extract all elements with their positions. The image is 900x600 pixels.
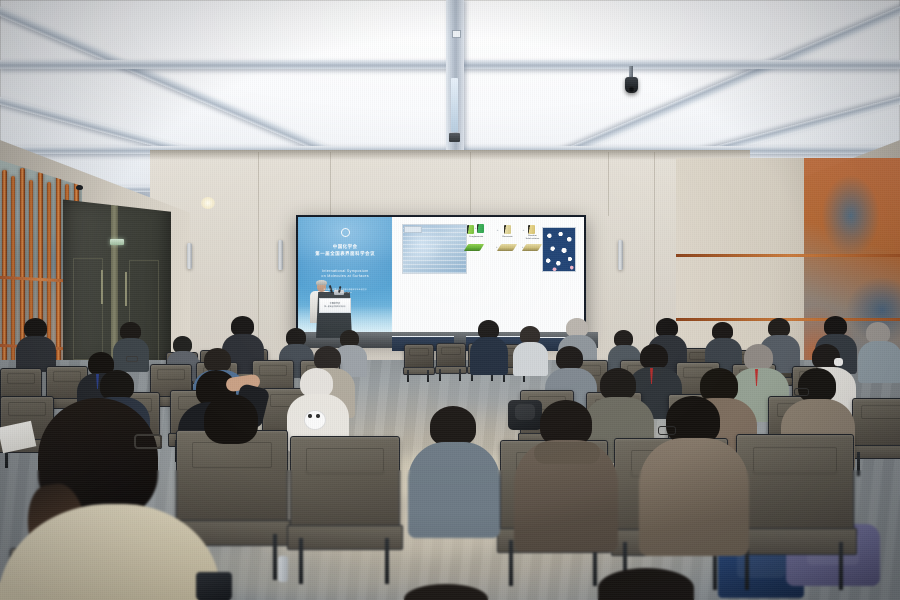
podium-sign-line2: 第一届全国表界面科学会议 [324,306,345,308]
poster-cn-title-line2: 第一届全国表界面科学会议 [298,251,392,258]
diagram-operator: + [497,228,499,232]
person-torso [858,341,900,383]
wall-seam [654,152,655,364]
person-hair [204,394,258,444]
chair-leg [385,538,389,584]
panda-eye [316,414,320,418]
stm-micrograph [402,224,467,274]
person-hair [700,368,738,402]
presenter-hair [316,280,327,285]
wall-seam [258,152,259,367]
wall-speaker [618,240,623,270]
chair-leg [299,538,303,584]
person-hair [824,316,847,336]
chair-leg [509,540,513,586]
chair-leg [273,534,277,580]
table-row[interactable] [736,434,852,590]
person-hair [430,406,476,446]
panda-eye [308,414,312,418]
door-handle[interactable] [125,272,127,306]
chair-back [176,430,288,525]
smartphone[interactable] [196,572,232,600]
chair-leg [459,369,461,381]
conference-hall-photo: 中国化学会 第一届全国表界面科学会议 International Symposi… [0,0,900,600]
person-torso [408,442,500,538]
wall-speaker [278,240,283,270]
table-row[interactable] [404,344,432,382]
chair-back [290,436,400,530]
door-panel [73,258,103,360]
person-hair [798,368,836,402]
stm-scalebar-tag [404,226,422,233]
poster-en-title-line2: on Molecules at Surfaces [298,274,392,279]
chair-back [404,344,434,370]
person-hair [744,344,773,370]
eyeglasses [658,426,676,435]
person-hair [556,346,583,370]
chair-leg [407,370,409,382]
diagram-operator: + [523,228,525,232]
ceiling-fixture-box [452,30,461,38]
person-hair [314,346,341,370]
table-row[interactable] [852,398,900,476]
person-hair [100,370,134,400]
table-row[interactable] [436,343,464,381]
podium-sign: 中国化学会 第一届全国表界面科学会议 [319,298,351,313]
slide-science-content: + Conglomerate + + Racemate + + Rand [392,217,584,337]
small-black-bag [508,400,542,430]
chair-leg [839,542,843,590]
person-torso [639,438,749,556]
domain-map-inset [542,227,577,272]
wall-seam [470,152,471,214]
chair-back [852,398,900,448]
wall-downlight [201,197,215,209]
ceiling-diffuser-strip [451,78,458,132]
wall-seam [330,152,331,218]
chair-leg [857,452,860,476]
person-hair [666,396,720,444]
person-hair [24,318,47,338]
lattice-cross-rail [676,254,900,257]
table-row[interactable] [290,436,398,584]
person-hair [866,322,890,343]
chair-back [736,434,854,533]
diagram-label-conglomerate: Conglomerate [463,236,489,239]
person-torso [470,337,508,375]
person-hair [300,368,333,397]
door-handle[interactable] [101,270,103,304]
lattice-cross-rail [676,318,900,321]
chair-back [436,343,466,369]
ceiling-vent [449,133,460,142]
chair-leg [427,370,429,382]
eyeglasses [794,388,809,396]
wall-seam [608,152,609,216]
person-hair [640,344,668,369]
panda-graphic [304,410,326,430]
hoodie-collar [534,442,600,464]
eyeglasses [134,434,162,449]
person-hair [600,368,636,400]
person-hair [598,568,694,600]
exit-sign [110,239,124,245]
chair-leg [439,369,441,381]
person-hair [231,316,254,336]
wall-speaker [187,243,192,270]
dome-camera [76,185,83,190]
poster-footer-line2: 2024.10.18-21 [298,292,392,295]
person-torso [513,342,548,376]
person-hair [204,348,231,372]
poster-cn-title-line1: 中国化学会 [298,244,392,251]
person-torso [113,338,149,372]
diagram-label-racemate: Racemate [495,236,521,239]
face-mask [834,358,843,366]
eyeglasses [126,356,138,362]
chemical-society-logo [341,228,350,237]
wall-soffit-shadow [150,150,750,160]
